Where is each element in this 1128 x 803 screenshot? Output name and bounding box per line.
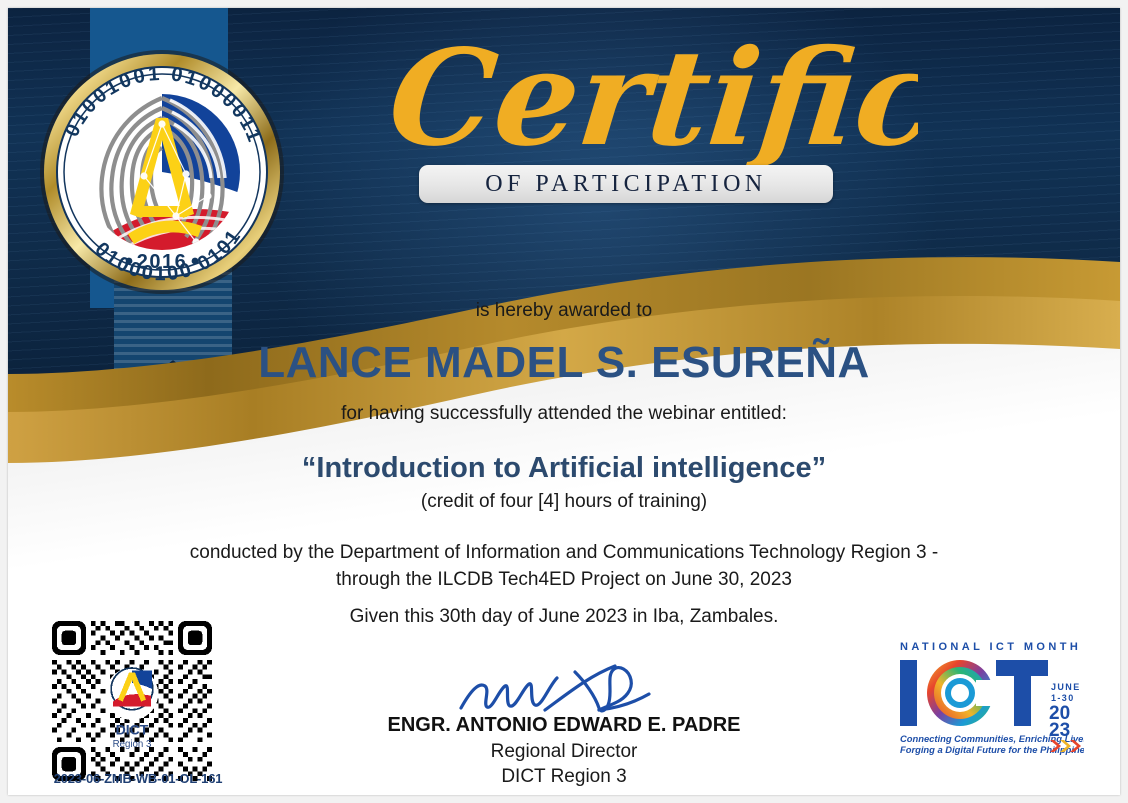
qr-center-label-region: Region 3 [113,739,152,750]
handwritten-signature-icon [449,660,679,718]
credit-line: (credit of four [4] hours of training) [8,491,1120,513]
ict-month-range: 1-30 [1051,693,1075,703]
certificate-page: 01001001 01000011 01000100 01010100 2016 [8,8,1120,795]
qr-code-icon[interactable]: DICT Region 3 [52,621,212,781]
webinar-title: “Introduction to Artificial intelligence… [8,452,1120,485]
conducted-by-block: conducted by the Department of Informati… [8,539,1120,593]
national-ict-month-logo: NATIONAL ICT MONTH JUNE 1-30 20 23 [888,634,1084,760]
conducted-line-1: conducted by the Department of Informati… [8,539,1120,566]
conducted-line-2: through the ILCDB Tech4ED Project on Jun… [8,566,1120,593]
certificate-image: 01001001 01000011 01000100 01010100 2016 [0,0,1128,803]
qr-code-block: DICT Region 3 2023-06-ZMB-WB-01-OL-161 [52,621,224,793]
attendance-line: for having successfully attended the web… [8,403,1120,425]
ict-header-text: NATIONAL ICT MONTH [900,641,1081,653]
qr-center-label-dict: DICT [116,721,149,737]
awarded-label: is hereby awarded to [8,300,1120,322]
ict-month-label: JUNE [1051,682,1081,692]
recipient-name: LANCE MADEL S. ESUREÑA [8,338,1120,388]
certificate-reference-number: 2023-06-ZMB-WB-01-OL-161 [40,771,236,786]
